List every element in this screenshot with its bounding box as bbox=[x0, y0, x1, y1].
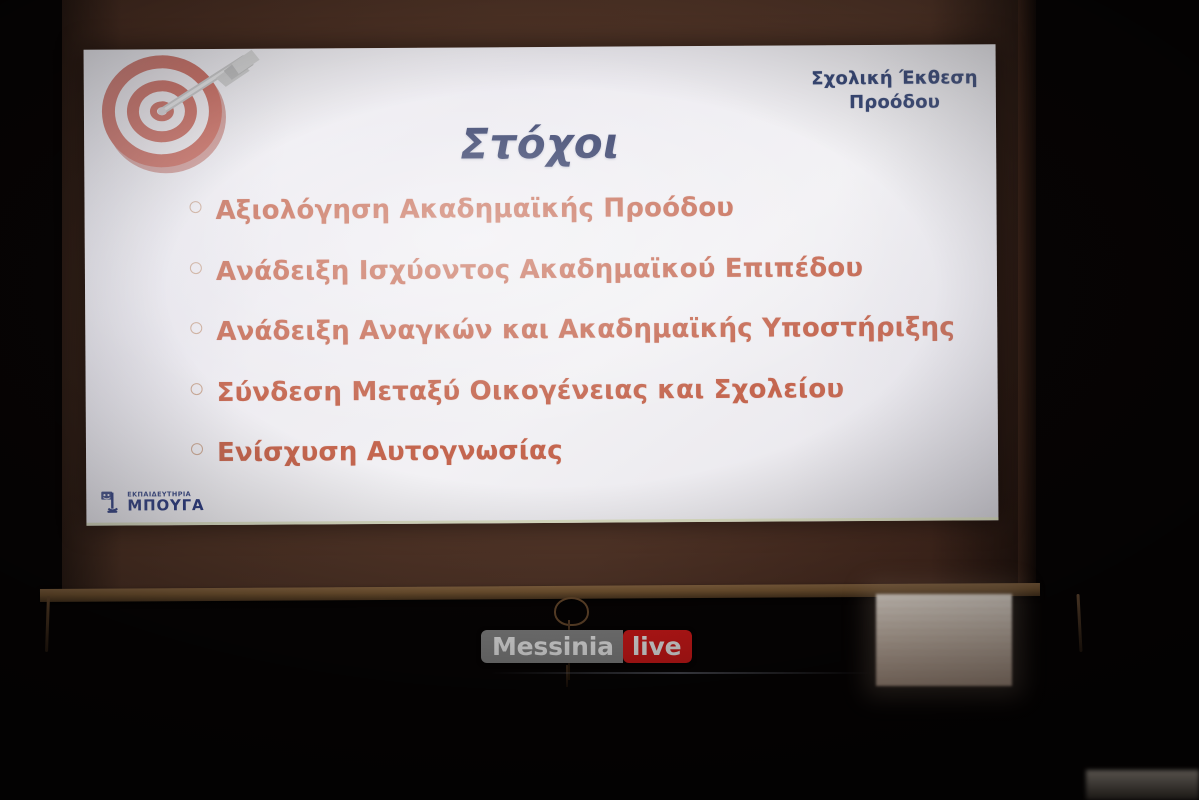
list-item: Ενίσχυση Αυτογνωσίας bbox=[191, 435, 958, 468]
backdrop-right-edge-strip bbox=[1018, 0, 1036, 592]
bullet-circle-icon bbox=[190, 322, 202, 334]
slide-header-line1: Σχολική Έκθεση bbox=[811, 66, 978, 91]
screen-pull-cord-lower bbox=[566, 665, 568, 687]
foreground-light-glint bbox=[1086, 770, 1199, 800]
slide-header: Σχολική Έκθεση Προόδου bbox=[811, 66, 978, 115]
list-item: Σύνδεση Μεταξύ Οικογένειας και Σχολείου bbox=[191, 374, 958, 407]
slide-title: Στόχοι bbox=[84, 116, 996, 171]
school-logo-bottom-text: ΜΠΟΥΓΑ bbox=[127, 498, 204, 513]
faint-horizontal-highlight bbox=[489, 672, 872, 674]
wall-light-patch bbox=[876, 594, 1012, 686]
school-logo: ΕΚΠΑΙΔΕΥΤΗΡΙΑ ΜΠΟΥΓΑ bbox=[100, 489, 204, 516]
list-item: Ανάδειξη Ισχύοντος Ακαδημαϊκού Επιπέδου bbox=[190, 253, 957, 286]
bullet-circle-icon bbox=[189, 201, 201, 213]
projected-slide: Σχολική Έκθεση Προόδου Στόχοι Αξιολόγηση… bbox=[84, 44, 999, 526]
school-logo-text: ΕΚΠΑΙΔΕΥΤΗΡΙΑ ΜΠΟΥΓΑ bbox=[127, 491, 204, 513]
slide-header-line2: Προόδου bbox=[811, 90, 978, 115]
messinia-live-watermark: Messinia live bbox=[481, 630, 692, 663]
bullet-text: Ανάδειξη Ισχύοντος Ακαδημαϊκού Επιπέδου bbox=[216, 254, 863, 287]
wall-light-patch-streaks bbox=[876, 594, 1012, 686]
screen-pull-ring bbox=[554, 597, 589, 626]
watermark-left-text: Messinia bbox=[481, 630, 623, 663]
photo-scene: Σχολική Έκθεση Προόδου Στόχοι Αξιολόγηση… bbox=[0, 0, 1199, 800]
bullet-circle-icon bbox=[191, 383, 203, 395]
bouga-school-emblem-icon bbox=[100, 490, 122, 516]
bullet-text: Αξιολόγηση Ακαδημαϊκής Προόδου bbox=[215, 194, 734, 226]
watermark-right-text: live bbox=[623, 630, 693, 663]
bullet-text: Ανάδειξη Αναγκών και Ακαδημαϊκής Υποστήρ… bbox=[216, 314, 955, 347]
bullet-text: Ενίσχυση Αυτογνωσίας bbox=[217, 437, 563, 468]
bullet-circle-icon bbox=[191, 443, 203, 455]
list-item: Ανάδειξη Αναγκών και Ακαδημαϊκής Υποστήρ… bbox=[190, 314, 957, 347]
bullet-circle-icon bbox=[190, 262, 202, 274]
bullet-list: Αξιολόγηση Ακαδημαϊκής Προόδου Ανάδειξη … bbox=[189, 192, 958, 500]
bullet-text: Σύνδεση Μεταξύ Οικογένειας και Σχολείου bbox=[217, 375, 845, 407]
list-item: Αξιολόγηση Ακαδημαϊκής Προόδου bbox=[189, 192, 956, 225]
